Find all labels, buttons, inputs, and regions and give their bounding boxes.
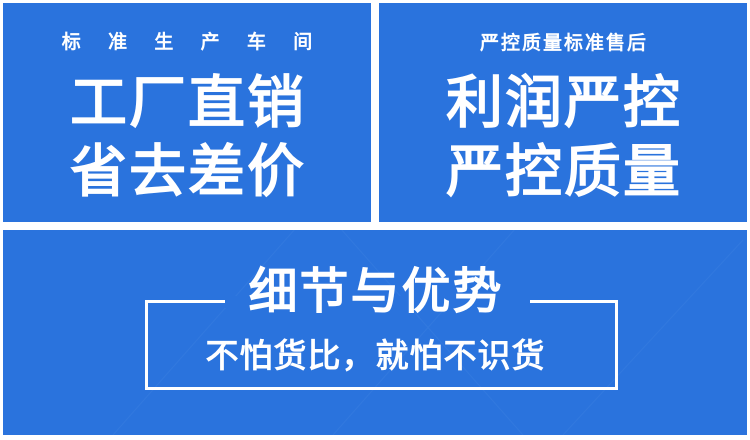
panel-quality-control-eyebrow: 严控质量标准售后 <box>379 34 747 53</box>
panel-quality-control-headline-line1: 利润严控 <box>379 75 747 132</box>
panel-quality-control: 严控质量标准售后 利润严控 严控质量 <box>379 3 747 222</box>
panel-quality-control-headline-line2: 严控质量 <box>379 144 747 201</box>
panel-factory-direct-headline-line2: 省去差价 <box>3 144 371 201</box>
panel-details-advantages <box>3 230 747 435</box>
promo-banner: 标 准 生 产 车 间 工厂直销 省去差价 严控质量标准售后 利润严控 严控质量… <box>0 0 750 440</box>
panel-factory-direct: 标 准 生 产 车 间 工厂直销 省去差价 <box>3 3 371 222</box>
panel-factory-direct-headline-line1: 工厂直销 <box>3 75 371 132</box>
panel-factory-direct-eyebrow: 标 准 生 产 车 间 <box>3 33 371 52</box>
details-advantages-subtitle: 不怕货比，就怕不识货 <box>0 339 750 372</box>
details-advantages-title: 细节与优势 <box>0 268 750 317</box>
